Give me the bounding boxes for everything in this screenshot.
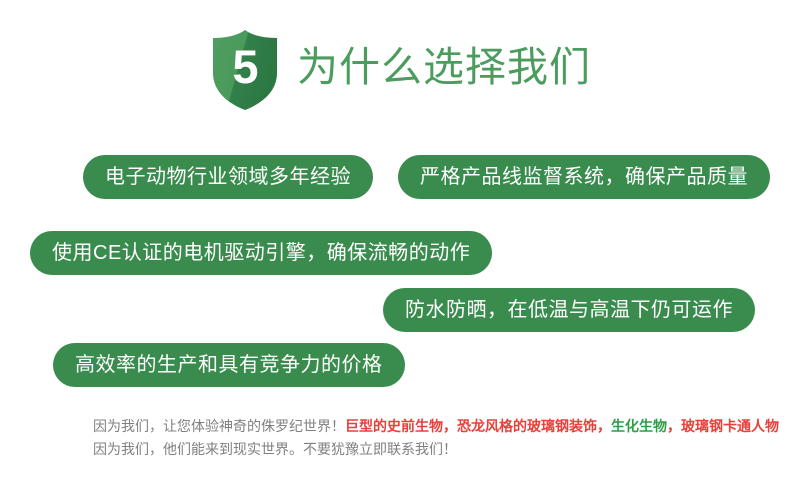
feature-pill: 电子动物行业领域多年经验	[83, 155, 373, 199]
shield-badge: 5	[209, 29, 281, 111]
badge-number: 5	[209, 29, 281, 111]
footer-line-1: 因为我们，让您体验神奇的侏罗纪世界！巨型的史前生物，恐龙风格的玻璃钢装饰，生化生…	[93, 415, 793, 438]
feature-pill: 使用CE认证的电机驱动引擎，确保流畅的动作	[30, 231, 492, 275]
feature-pill-label: 电子动物行业领域多年经验	[105, 167, 351, 187]
feature-pill: 防水防晒，在低温与高温下仍可运作	[383, 288, 755, 332]
footer-highlight-green: 生化生物	[611, 418, 667, 434]
footer-line1-prefix: 因为我们，让您体验神奇的侏罗纪世界！	[93, 418, 345, 434]
feature-pill: 高效率的生产和具有竞争力的价格	[53, 343, 405, 387]
footer-line-2: 因为我们，他们能来到现实世界。不要犹豫立即联系我们！	[93, 438, 793, 461]
footer-highlight-red-1: 巨型的史前生物，恐龙风格的玻璃钢装饰，	[345, 418, 611, 434]
feature-pill-label: 使用CE认证的电机驱动引擎，确保流畅的动作	[52, 243, 470, 263]
header: 5 为什么选择我们	[0, 27, 800, 113]
page-title: 为什么选择我们	[297, 47, 591, 94]
feature-pill-label: 防水防晒，在低温与高温下仍可运作	[405, 300, 733, 320]
feature-pill-label: 高效率的生产和具有竞争力的价格	[75, 355, 383, 375]
footer-description: 因为我们，让您体验神奇的侏罗纪世界！巨型的史前生物，恐龙风格的玻璃钢装饰，生化生…	[93, 415, 793, 461]
feature-pill-label: 严格产品线监督系统，确保产品质量	[420, 167, 748, 187]
feature-pill: 严格产品线监督系统，确保产品质量	[398, 155, 770, 199]
footer-highlight-red-2: ，玻璃钢卡通人物	[667, 418, 779, 434]
